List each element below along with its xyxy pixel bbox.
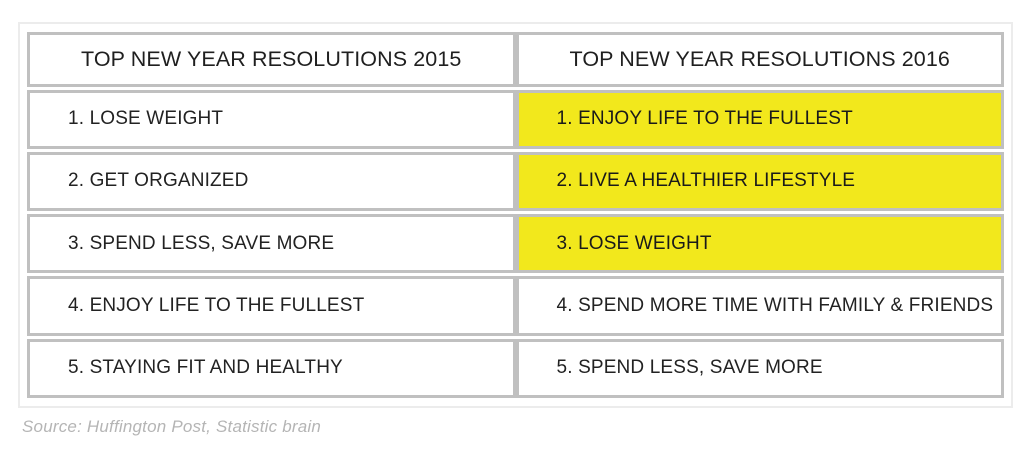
list-item-label: 3. SPEND LESS, SAVE MORE [30, 233, 334, 255]
table-row: 1. ENJOY LIFE TO THE FULLEST [516, 90, 1005, 149]
list-item-label: 4. ENJOY LIFE TO THE FULLEST [30, 295, 364, 317]
list-item-label: 5. STAYING FIT AND HEALTHY [30, 357, 343, 379]
column-header-2016: TOP NEW YEAR RESOLUTIONS 2016 [516, 32, 1005, 87]
table-row: 5. SPEND LESS, SAVE MORE [516, 339, 1005, 398]
table-row: 4. ENJOY LIFE TO THE FULLEST [27, 276, 516, 335]
resolutions-comparison-table: TOP NEW YEAR RESOLUTIONS 2015 1. LOSE WE… [27, 32, 1004, 398]
table-row: 4. SPEND MORE TIME WITH FAMILY & FRIENDS [516, 276, 1005, 335]
table-row: 2. LIVE A HEALTHIER LIFESTYLE [516, 152, 1005, 211]
table-row: 3. LOSE WEIGHT [516, 214, 1005, 273]
table-row: 1. LOSE WEIGHT [27, 90, 516, 149]
list-item-label: 4. SPEND MORE TIME WITH FAMILY & FRIENDS [519, 295, 994, 317]
table-row: 3. SPEND LESS, SAVE MORE [27, 214, 516, 273]
list-item-label: 5. SPEND LESS, SAVE MORE [519, 357, 823, 379]
column-2016: TOP NEW YEAR RESOLUTIONS 2016 1. ENJOY L… [516, 32, 1005, 398]
table-row: 2. GET ORGANIZED [27, 152, 516, 211]
column-header-2015: TOP NEW YEAR RESOLUTIONS 2015 [27, 32, 516, 87]
list-item-label: 1. LOSE WEIGHT [30, 108, 223, 130]
column-header-2015-label: TOP NEW YEAR RESOLUTIONS 2015 [81, 47, 461, 72]
list-item-label: 1. ENJOY LIFE TO THE FULLEST [519, 108, 853, 130]
list-item-label: 3. LOSE WEIGHT [519, 233, 712, 255]
list-item-label: 2. GET ORGANIZED [30, 170, 248, 192]
list-item-label: 2. LIVE A HEALTHIER LIFESTYLE [519, 170, 856, 192]
table-row: 5. STAYING FIT AND HEALTHY [27, 339, 516, 398]
column-header-2016-label: TOP NEW YEAR RESOLUTIONS 2016 [570, 47, 950, 72]
column-2015: TOP NEW YEAR RESOLUTIONS 2015 1. LOSE WE… [27, 32, 516, 398]
source-note: Source: Huffington Post, Statistic brain [22, 417, 321, 437]
